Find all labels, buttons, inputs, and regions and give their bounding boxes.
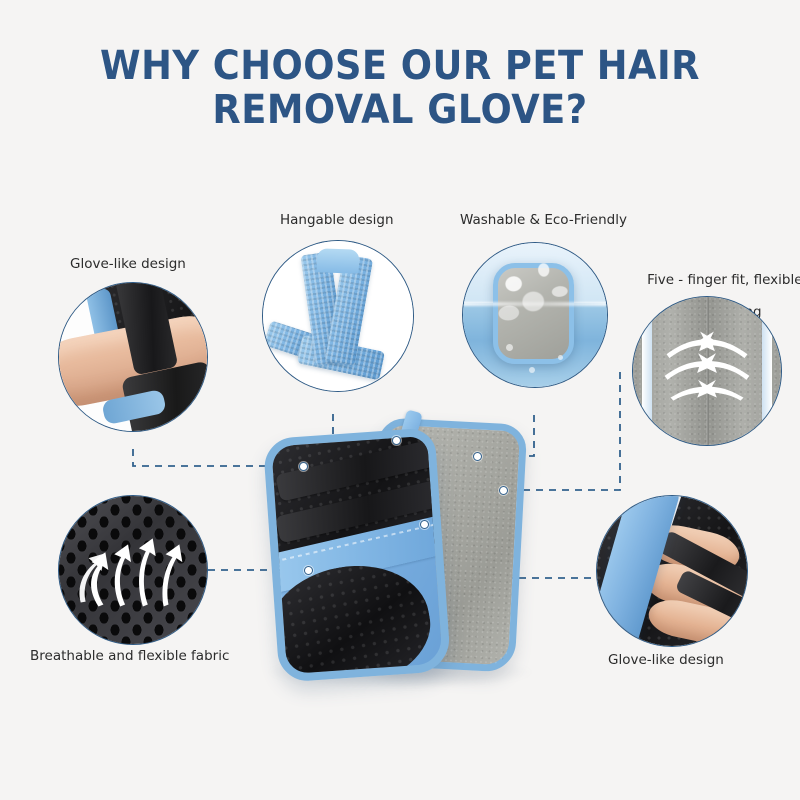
anchor-dot-washable xyxy=(473,452,482,461)
circle-hangable-design xyxy=(262,240,414,392)
bubble xyxy=(506,344,513,351)
anchor-dot-glove-like-right xyxy=(420,520,429,529)
product-image-pet-hair-removal-glove xyxy=(255,405,555,695)
label-five-finger-line1: Five - finger fit, flexible xyxy=(647,272,800,288)
inward-arrow-group xyxy=(633,297,781,445)
strap-fold xyxy=(317,248,360,273)
label-glove-like-design-right: Glove-like design xyxy=(608,652,724,668)
anchor-dot-five-finger xyxy=(499,486,508,495)
circle-breathable-fabric xyxy=(58,495,208,645)
label-washable-eco-friendly: Washable & Eco-Friendly xyxy=(460,212,627,228)
glove-front-blue xyxy=(263,427,452,682)
airflow-arrow-group xyxy=(59,496,207,644)
circle-washable-eco-friendly xyxy=(462,242,608,388)
label-breathable-fabric: Breathable and flexible fabric xyxy=(30,648,229,664)
label-glove-like-design-left: Glove-like design xyxy=(70,256,186,272)
page-title: WHY CHOOSE OUR PET HAIR REMOVAL GLOVE? xyxy=(32,44,768,132)
page-title-line1: WHY CHOOSE OUR PET HAIR xyxy=(100,43,700,89)
anchor-dot-glove-like-left xyxy=(299,462,308,471)
circle-glove-like-design-right xyxy=(596,495,748,647)
circle-five-finger-fit xyxy=(632,296,782,446)
label-hangable-design: Hangable design xyxy=(280,212,394,228)
anchor-dot-hang-loop xyxy=(392,436,401,445)
water-splash xyxy=(482,250,589,349)
anchor-dot-breathable xyxy=(304,566,313,575)
infographic-canvas: WHY CHOOSE OUR PET HAIR REMOVAL GLOVE? G… xyxy=(0,0,800,800)
page-title-line2: REMOVAL GLOVE? xyxy=(32,88,768,132)
circle-glove-like-design-left xyxy=(58,282,208,432)
